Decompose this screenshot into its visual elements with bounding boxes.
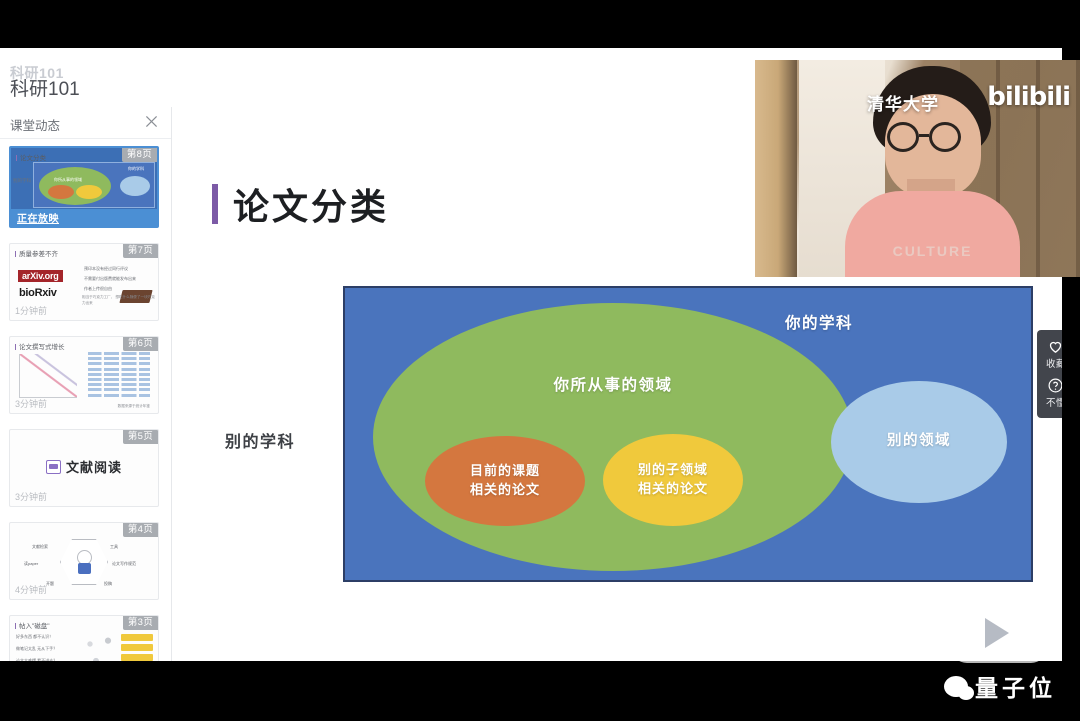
thumb-content: 文献阅读 — [10, 457, 158, 476]
bullet-item: 好多东西 都不认识！ — [16, 634, 57, 640]
slide-badge: 第5页 — [123, 430, 158, 444]
venn-outer-label: 你的学科 — [785, 311, 853, 333]
list-item[interactable]: 第6页 论文撰写式增长 数据来源于统计年鉴 3分钟前 — [9, 336, 159, 414]
app-root: 科研101 科研101 课堂动态 第8页 论文分类 别的学科 你的学科 你所从事… — [0, 0, 1080, 721]
panel-title: 课堂动态 — [10, 115, 60, 134]
venn-yellow-label: 别的子领域 相关的论文 — [638, 461, 708, 499]
thumb-label: 文献阅读 — [66, 457, 122, 476]
venn-green-label: 你所从事的领域 — [373, 373, 853, 395]
shirt-text: CULTURE — [845, 243, 1020, 259]
venn-yellow-line2: 相关的论文 — [638, 480, 708, 499]
hexagon-label: 读paper — [24, 561, 38, 567]
glasses-right — [929, 122, 961, 152]
wechat-icon — [944, 676, 968, 697]
hexagon-center — [78, 563, 91, 574]
hexagon-label: 工具 — [110, 544, 118, 550]
thumb-caption: 数据来源于统计年鉴 — [118, 404, 150, 409]
title-text: 论文分类 — [233, 178, 389, 230]
wechat-watermark: 量子位 — [944, 669, 1056, 703]
thumb-outer-label: 你的学科 — [128, 166, 144, 172]
venn-blue-ellipse: 别的领域 — [831, 381, 1007, 503]
right-black-bar — [1062, 277, 1080, 661]
bullet-item: 不需要付出版费就能发布出来 — [84, 276, 136, 282]
title-accent-bar — [212, 184, 218, 224]
school-watermark: 清华大学 — [867, 90, 939, 115]
list-item[interactable]: 第3页 帖入"磁盘" 好多东西 都不认识！ 做笔记太乱 无从下手？ 论文太难懂 … — [9, 615, 159, 661]
top-black-bar — [0, 0, 1080, 48]
venn-blue-label: 别的领域 — [887, 431, 951, 452]
slide-timestamp: 1分钟前 — [15, 304, 47, 317]
slide-badge: 第6页 — [123, 337, 158, 351]
slide-badge: 第8页 — [122, 148, 157, 162]
venn-yellow-line1: 别的子领域 — [638, 461, 708, 480]
doodle-graphic — [82, 632, 122, 661]
bullet-item: 做笔记太乱 无从下手？ — [16, 646, 57, 652]
hexagon-label: 投稿 — [104, 581, 112, 587]
venn-orange-line1: 目前的课题 — [470, 462, 540, 481]
thumb-line-chart — [19, 354, 77, 398]
close-icon[interactable] — [143, 113, 160, 130]
wechat-label: 量子位 — [975, 669, 1056, 703]
venn-orange-ellipse: 目前的课题 相关的论文 — [425, 436, 585, 526]
tv-body — [951, 601, 1047, 663]
slide-heading: 帖入"磁盘" — [15, 620, 50, 630]
list-item[interactable]: 第5页 文献阅读 3分钟前 — [9, 429, 159, 507]
slide-heading: 论文分类 — [16, 152, 46, 162]
class-dynamics-panel: 课堂动态 第8页 论文分类 别的学科 你的学科 你所从事的领域 正在放映 — [0, 107, 172, 661]
slide-bullets: 好多东西 都不认识！ 做笔记太乱 无从下手？ 论文太难懂 看不进去？ — [16, 634, 57, 661]
venn-orange-label: 目前的课题 相关的论文 — [470, 462, 540, 500]
hexagon-label: 开题 — [46, 581, 54, 587]
thumb-green-ellipse — [39, 167, 111, 205]
other-disciplines-label: 别的学科 — [225, 428, 295, 452]
list-item[interactable]: 第7页 质量参差不齐 arXiv.org bioRxiv 预印本没有经过同行评议… — [9, 243, 159, 321]
slide-thumb-side-label: 别的学科 — [13, 178, 31, 184]
biorxiv-logo: bioRxiv — [19, 287, 57, 299]
slide-thumb-venn: 你的学科 你所从事的领域 — [33, 162, 155, 208]
bilibili-tv-icon — [951, 589, 1047, 663]
venn-diagram: 你的学科 你所从事的领域 目前的课题 相关的论文 别的子领域 相关的论文 别的领… — [343, 286, 1033, 582]
slide-timestamp: 3分钟前 — [15, 490, 47, 503]
thumb-orange-ellipse — [48, 185, 74, 199]
slide-timestamp: 4分钟前 — [15, 583, 47, 596]
shirt — [845, 191, 1020, 277]
slide-badge: 第3页 — [123, 616, 158, 630]
venn-orange-line2: 相关的论文 — [470, 481, 540, 500]
thumb-yellow-ellipse — [76, 185, 102, 199]
webcam-overlay[interactable]: CULTURE 清华大学 bilibili — [755, 60, 1080, 277]
slide-heading: 质量参差不齐 — [15, 248, 58, 258]
page-title: 论文分类 — [212, 178, 389, 230]
slide-badge: 第7页 — [123, 244, 158, 258]
list-item[interactable]: 第8页 论文分类 别的学科 你的学科 你所从事的领域 正在放映 — [9, 146, 159, 228]
glasses-bridge — [919, 134, 929, 137]
bilibili-logo: bilibili — [987, 82, 1070, 112]
glasses-left — [887, 122, 919, 152]
hexagon-label: 文献检索 — [32, 544, 48, 550]
list-item[interactable]: 第4页 文献检索 工具 读paper 论文写作规范 开题 投稿 4分钟前 — [9, 522, 159, 600]
slide-list[interactable]: 第8页 论文分类 别的学科 你的学科 你所从事的领域 正在放映 第7页 质量参差… — [0, 139, 171, 661]
slide-timestamp: 3分钟前 — [15, 397, 47, 410]
app-title: 科研101 — [10, 74, 80, 101]
thumb-green-label: 你所从事的领域 — [54, 177, 82, 183]
bottom-black-bar — [0, 661, 1080, 721]
hexagon-label: 论文写作规范 — [112, 561, 136, 567]
slide-note: 相当于巧克力工厂， 想吃什么随便了一块巧克力出来 — [82, 295, 158, 306]
thumb-data-table — [88, 352, 150, 396]
panel-header: 课堂动态 — [0, 107, 171, 139]
thumb-blue-ellipse — [120, 176, 150, 196]
venn-green-ellipse: 你所从事的领域 — [373, 303, 853, 571]
slide-badge: 第4页 — [123, 523, 158, 537]
play-icon — [985, 618, 1009, 648]
venn-yellow-ellipse: 别的子领域 相关的论文 — [603, 434, 743, 526]
app-header: 科研101 科研101 — [0, 55, 200, 107]
book-icon — [46, 460, 61, 474]
highlight-chips — [121, 634, 153, 661]
arxiv-logo: arXiv.org — [18, 270, 63, 282]
slide-heading: 论文撰写式增长 — [15, 341, 65, 351]
now-playing-badge: 正在放映 — [11, 209, 157, 226]
bullet-item: 预印本没有经过同行评议 — [84, 266, 136, 272]
